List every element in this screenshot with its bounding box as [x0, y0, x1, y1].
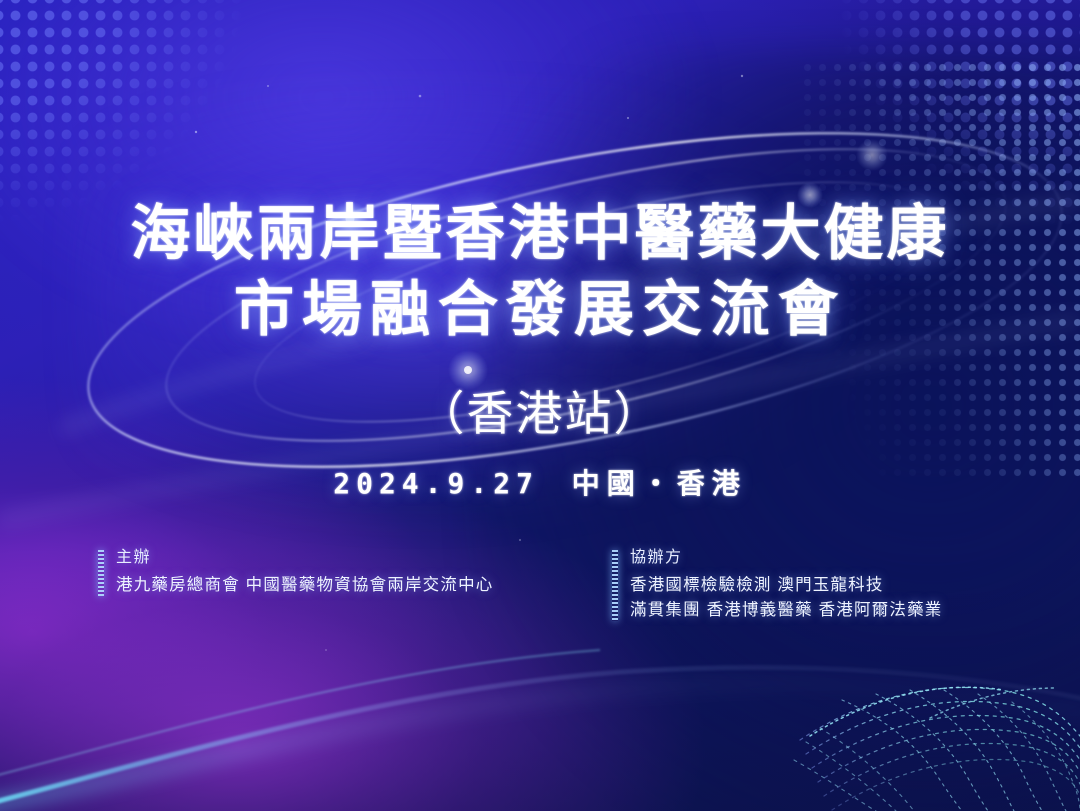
poster-content: 海峽兩岸暨香港中醫藥大健康 市場融合發展交流會 （香港站） 2024.9.27 …: [0, 0, 1080, 811]
date-location-bar: 2024.9.27 中國・香港: [0, 462, 1080, 502]
title-line-2: 市場融合發展交流會: [0, 272, 1080, 348]
coorganizer-accent-bar: [612, 550, 618, 621]
host-organizer-block: 主辦 港九藥房總商會 中國醫藥物資協會兩岸交流中心: [98, 546, 493, 598]
conference-poster: 海峽兩岸暨香港中醫藥大健康 市場融合發展交流會 （香港站） 2024.9.27 …: [0, 0, 1080, 811]
coorganizer-line-1: 香港國標檢驗檢測 澳門玉龍科技: [630, 573, 942, 598]
poster-title-block: 海峽兩岸暨香港中醫藥大健康 市場融合發展交流會: [0, 196, 1080, 348]
poster-subtitle: （香港站）: [0, 384, 1080, 444]
title-line-1: 海峽兩岸暨香港中醫藥大健康: [0, 196, 1080, 272]
coorganizer-line-2: 滿貫集團 香港博義醫藥 香港阿爾法藥業: [630, 598, 942, 623]
coorganizer-block: 協辦方 香港國標檢驗檢測 澳門玉龍科技 滿貫集團 香港博義醫藥 香港阿爾法藥業: [612, 546, 942, 623]
event-date: 2024.9.27: [333, 467, 539, 500]
host-accent-bar: [98, 550, 104, 596]
host-line-1: 港九藥房總商會 中國醫藥物資協會兩岸交流中心: [116, 573, 493, 598]
host-label: 主辦: [116, 546, 493, 570]
coorganizer-label: 協辦方: [630, 546, 942, 570]
event-location: 中國・香港: [572, 468, 747, 499]
